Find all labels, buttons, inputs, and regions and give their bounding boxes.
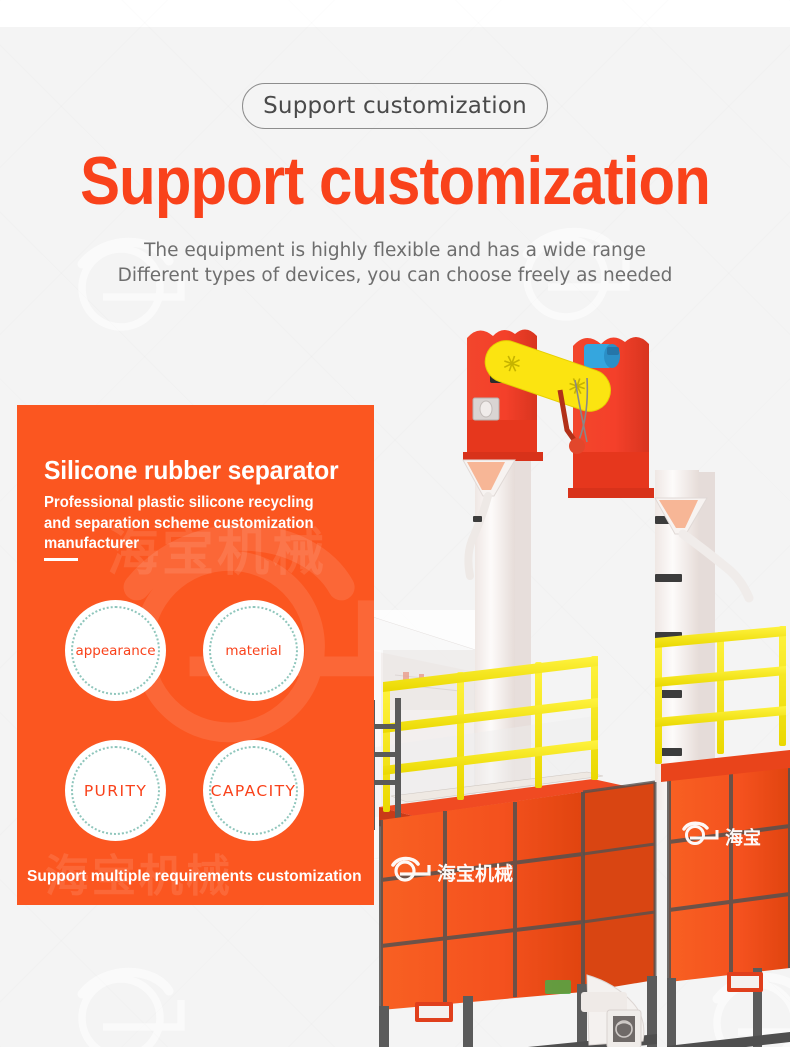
feature-label: material [225, 643, 281, 659]
card-heading: Silicone rubber separator [44, 455, 339, 486]
card-divider-rule [44, 558, 78, 561]
feature-circle-material: material [203, 600, 304, 701]
pill-label: Support customization [263, 93, 527, 119]
feature-circles: appearance material PURITY CAPACITY [48, 595, 348, 845]
watermark-logo-icon [55, 940, 205, 1047]
page-title: Support customization [47, 144, 742, 218]
feature-label: PURITY [84, 782, 147, 800]
separator-machine-illustration: 海宝机械 海宝 [355, 320, 790, 1047]
feature-circle-appearance: appearance [65, 600, 166, 701]
page-root: Support customization Support customizat… [0, 0, 790, 1047]
subtitle-line-2: Different types of devices, you can choo… [0, 263, 790, 288]
card-description: Professional plastic silicone recycling … [44, 493, 342, 555]
feature-circle-capacity: CAPACITY [203, 740, 304, 841]
feature-circle-purity: PURITY [65, 740, 166, 841]
support-customization-pill: Support customization [242, 83, 548, 129]
product-photo: 海宝机械 海宝 [355, 320, 790, 1047]
svg-text:海宝机械: 海宝机械 [437, 862, 513, 885]
subtitle-line-1: The equipment is highly flexible and has… [0, 238, 790, 263]
card-footer-text: Support multiple requirements customizat… [27, 868, 362, 886]
feature-label: CAPACITY [211, 782, 297, 800]
top-white-band [0, 0, 790, 27]
feature-label: appearance [75, 643, 155, 659]
page-subtitle: The equipment is highly flexible and has… [0, 238, 790, 288]
svg-text:海宝: 海宝 [725, 827, 761, 849]
